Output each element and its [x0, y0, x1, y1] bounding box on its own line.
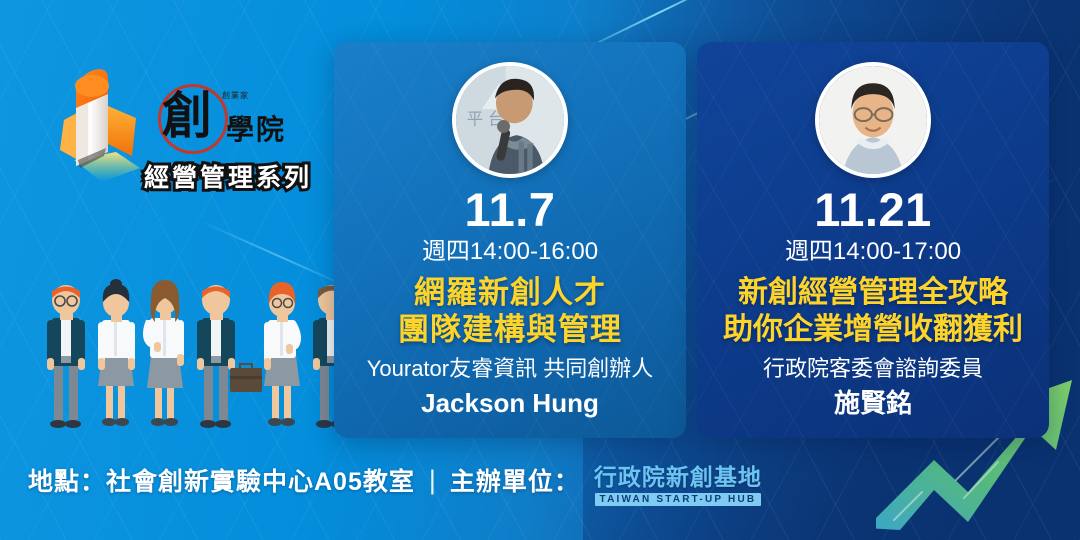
venue-text: 地點：社會創新實驗中心A05教室	[28, 462, 415, 498]
event-title-line-2: 助你企業增營收翻獲利	[697, 311, 1049, 348]
event-date: 11.21	[697, 184, 1049, 236]
speaker-name: Jackson Hung	[334, 387, 686, 419]
series-badge: 經營管理系列	[144, 158, 312, 194]
event-date: 11.7	[334, 184, 686, 236]
business-people-illustration	[14, 272, 374, 452]
speaker-photo-jackson-hung: 平 台	[456, 66, 564, 174]
organizer-label: 主辦單位：	[450, 462, 580, 498]
brand-sub-chars: 學院	[226, 108, 286, 148]
brand-logo: 創業家 創 學院 經營管理系列	[22, 52, 322, 212]
event-poster: 創業家 創 學院 經營管理系列	[0, 0, 1080, 540]
event-title-line-1: 新創經營管理全攻略	[697, 274, 1049, 311]
speaker-name: 施賢銘	[697, 387, 1049, 419]
event-card-2[interactable]: 11.21 週四14:00-17:00 新創經營管理全攻略 助你企業增營收翻獲利…	[697, 42, 1049, 438]
brand-main-char: 創	[162, 88, 212, 144]
event-card-1[interactable]: 平 台 11.7 週四14:00-16:00 網羅新創人才 團隊建構與管理	[334, 42, 686, 438]
footer-separator: |	[429, 465, 436, 496]
speaker-avatar: 平 台	[452, 62, 568, 178]
speaker-organization: Yourator友睿資訊 共同創辦人	[334, 355, 686, 383]
brand-wordmark: 創業家 創 學院	[152, 78, 332, 162]
organizer-logo: 行政院新創基地 TAIWAN START-UP HUB	[594, 458, 762, 506]
event-time: 週四14:00-16:00	[334, 238, 686, 266]
speaker-avatar	[815, 62, 931, 178]
event-title: 網羅新創人才 團隊建構與管理	[334, 274, 686, 348]
speaker-photo-shih-hsien-ming	[819, 66, 927, 174]
organizer-name-en: TAIWAN START-UP HUB	[595, 493, 762, 506]
brand-tiny-label: 創業家	[222, 90, 249, 101]
event-title: 新創經營管理全攻略 助你企業增營收翻獲利	[697, 274, 1049, 348]
speaker-organization: 行政院客委會諮詢委員	[697, 355, 1049, 383]
event-title-line-2: 團隊建構與管理	[334, 311, 686, 348]
event-time: 週四14:00-17:00	[697, 238, 1049, 266]
event-title-line-1: 網羅新創人才	[334, 274, 686, 311]
rocket-icon	[44, 56, 154, 206]
organizer-name-cn: 行政院新創基地	[594, 458, 762, 492]
footer-info: 地點：社會創新實驗中心A05教室 | 主辦單位： 行政院新創基地 TAIWAN …	[28, 456, 762, 504]
